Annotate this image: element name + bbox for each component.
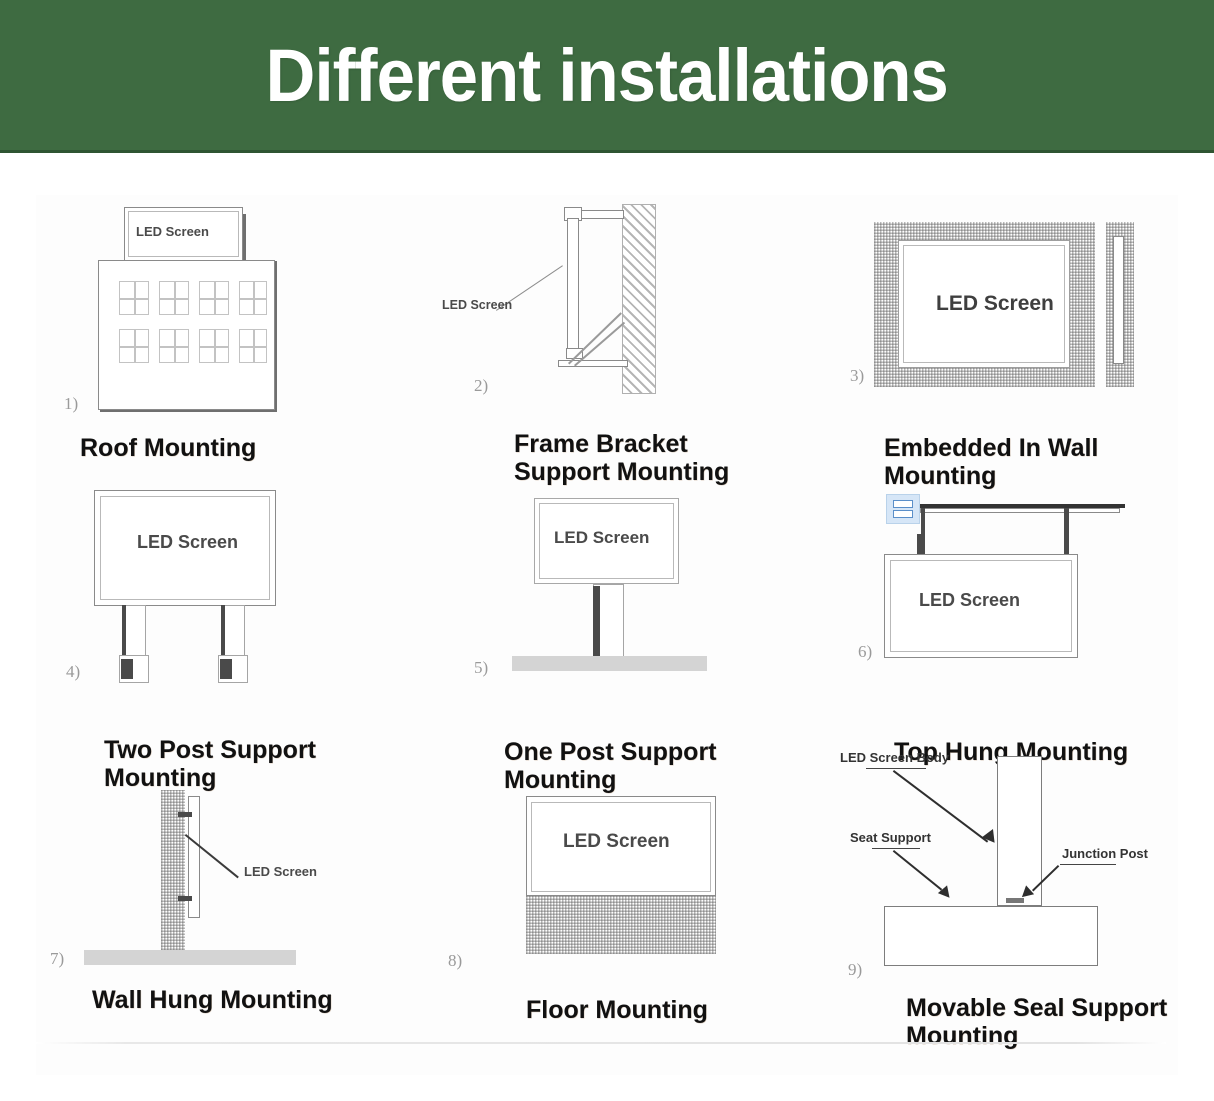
figure-number: 4) xyxy=(66,662,80,682)
diagram-cell-movable-seal: LED Screen Body Seat Support Junction Po… xyxy=(836,736,1214,1066)
figure-number: 9) xyxy=(848,960,862,980)
diagram-cell-frame-bracket: LED Screen 2) Frame Bracket Support Moun… xyxy=(436,176,836,466)
diagram-cell-top-hung: LED Screen 6) Top Hung Mounting xyxy=(836,466,1196,766)
diagram-cell-one-post: LED Screen 5) One Post Support Mounting xyxy=(436,466,836,766)
page-header-banner: Different installations xyxy=(0,0,1214,153)
annotation-led-screen-body: LED Screen Body xyxy=(840,750,949,765)
screen-label: LED Screen xyxy=(919,590,1020,611)
diagram-grid: LED Screen 1) Roof Mounting xyxy=(36,176,1186,1076)
broken-image-icon xyxy=(886,494,920,524)
screen-label: LED Screen xyxy=(554,528,649,548)
figure-number: 2) xyxy=(474,376,488,396)
diagram-cell-floor-mounting: LED Screen 8) Floor Mounting xyxy=(436,766,836,1066)
bottom-divider xyxy=(36,1042,1166,1044)
diagram-cell-roof-mounting: LED Screen 1) Roof Mounting xyxy=(36,176,416,466)
annotation-seat-support: Seat Support xyxy=(850,830,931,845)
diagram-cell-embedded-wall: LED Screen 3) Embedded In Wall Mounting xyxy=(836,176,1186,466)
caption-floor-mounting: Floor Mounting xyxy=(526,996,708,1024)
caption-roof-mounting: Roof Mounting xyxy=(80,434,256,462)
diagram-cell-two-post: LED Screen 4) Two Post Support Mounting xyxy=(36,466,416,766)
annotation-junction-post: Junction Post xyxy=(1062,846,1148,861)
screen-label: LED Screen xyxy=(137,532,238,553)
screen-label: LED Screen xyxy=(244,864,317,879)
screen-label: LED Screen xyxy=(136,224,209,239)
diagram-cell-wall-hung: LED Screen 7) Wall Hung Mounting xyxy=(36,766,416,1066)
figure-number: 8) xyxy=(448,951,462,971)
screen-label: LED Screen xyxy=(936,292,1054,316)
figure-number: 3) xyxy=(850,366,864,386)
screen-label: LED Screen xyxy=(442,298,512,312)
screen-label: LED Screen xyxy=(563,831,670,853)
figure-number: 5) xyxy=(474,658,488,678)
caption-wall-hung: Wall Hung Mounting xyxy=(92,986,333,1014)
figure-number: 7) xyxy=(50,949,64,969)
figure-number: 1) xyxy=(64,394,78,414)
page-title: Different installations xyxy=(266,33,948,118)
figure-number: 6) xyxy=(858,642,872,662)
